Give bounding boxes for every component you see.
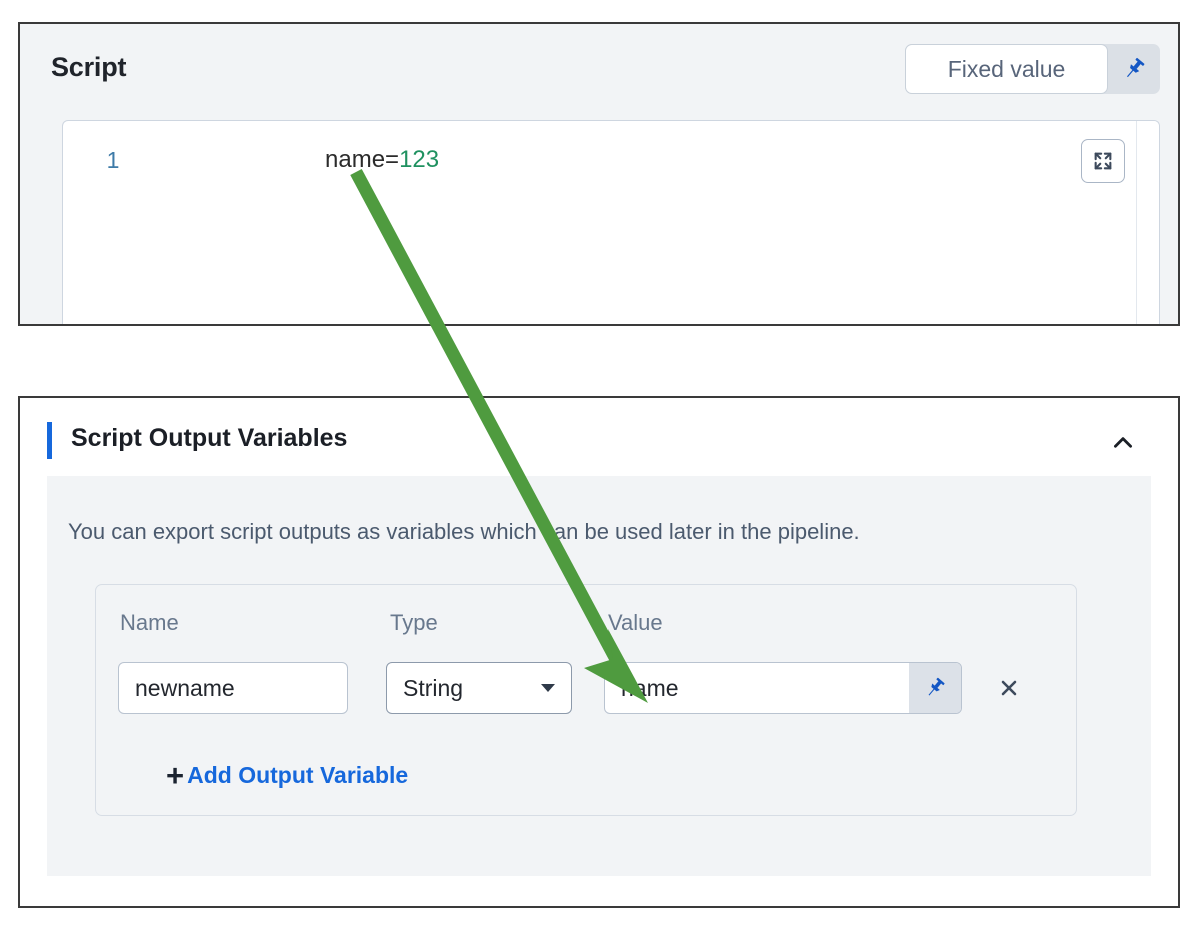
script-output-variables-panel: Script Output Variables You can export s…: [18, 396, 1180, 908]
close-x-icon: [997, 676, 1021, 700]
variable-value-group: name: [604, 662, 962, 714]
variable-value-input[interactable]: name: [605, 663, 909, 713]
editor-scrollbar[interactable]: [1136, 121, 1159, 324]
column-header-value: Value: [608, 610, 663, 636]
section-title: Script Output Variables: [71, 424, 347, 453]
variable-type-value: String: [403, 675, 463, 702]
chevron-up-icon: [1110, 430, 1136, 456]
line-number: 1: [63, 147, 163, 174]
column-header-name: Name: [120, 610, 179, 636]
variable-value-pin-button[interactable]: [909, 663, 961, 713]
code-editor[interactable]: 1 name=123: [62, 120, 1160, 324]
output-variables-card: Name Type Value newname String name: [95, 584, 1077, 816]
script-panel-header: Script Fixed value: [20, 24, 1178, 112]
chevron-down-icon: [541, 684, 555, 692]
fixed-value-button[interactable]: Fixed value: [905, 44, 1108, 94]
code-identifier: name=: [325, 146, 399, 173]
collapse-section-button[interactable]: [1106, 426, 1140, 460]
script-panel: Script Fixed value 1 name=123: [18, 22, 1180, 326]
remove-variable-button[interactable]: [992, 671, 1026, 705]
code-line-1: 1 name=123: [63, 143, 1159, 177]
expand-fullscreen-icon: [1092, 150, 1114, 172]
section-accent-bar: [47, 422, 52, 459]
page-title: Script: [51, 52, 126, 83]
add-output-variable-button[interactable]: + Add Output Variable: [166, 760, 408, 791]
value-mode-group: Fixed value: [905, 44, 1160, 94]
pin-icon: [923, 676, 947, 700]
expand-editor-button[interactable]: [1081, 139, 1125, 183]
code-value: 123: [399, 146, 439, 173]
section-description: You can export script outputs as variabl…: [68, 519, 860, 545]
section-header: Script Output Variables: [20, 398, 1178, 476]
column-header-type: Type: [390, 610, 438, 636]
code-content[interactable]: name=123: [325, 146, 439, 174]
add-output-variable-label: Add Output Variable: [187, 762, 408, 789]
plus-icon: +: [166, 760, 184, 791]
section-body: You can export script outputs as variabl…: [47, 476, 1151, 876]
variable-name-input[interactable]: newname: [118, 662, 348, 714]
variable-type-select[interactable]: String: [386, 662, 572, 714]
script-pin-button[interactable]: [1108, 44, 1160, 94]
pin-icon: [1121, 56, 1147, 82]
